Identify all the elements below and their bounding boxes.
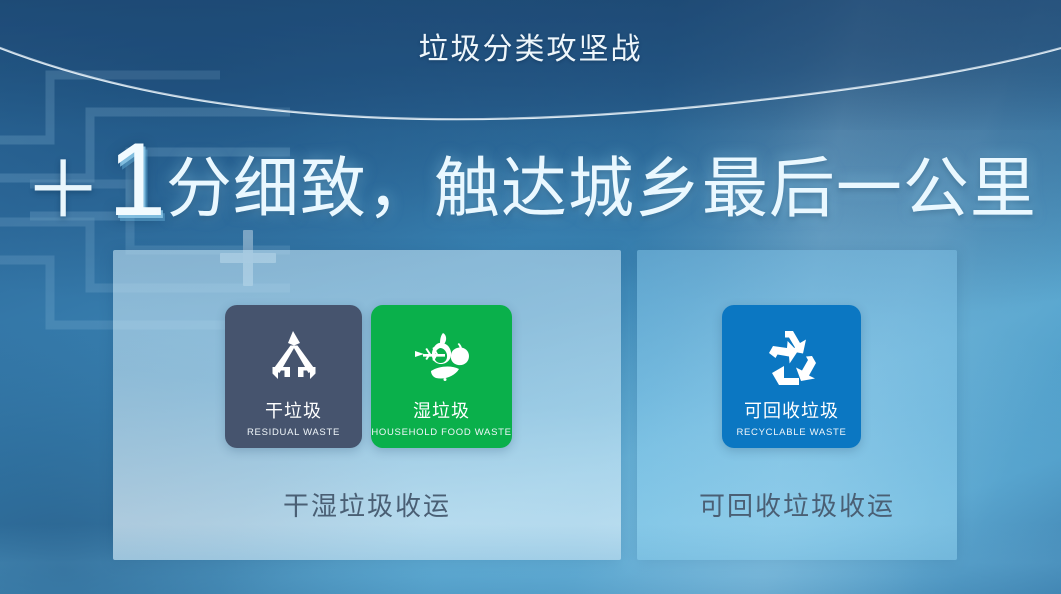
- headline: ＋1分细致，触达城乡最后一公里: [0, 128, 1061, 232]
- residual-waste-icon: [257, 321, 331, 395]
- card-label-en: HOUSEHOLD FOOD WASTE: [371, 427, 511, 438]
- caption-dry-wet-collection: 干湿垃圾收运: [113, 486, 621, 523]
- headline-plus-sign: ＋: [24, 146, 102, 234]
- card-label-cn: 湿垃圾: [413, 397, 470, 423]
- card-label-en: RESIDUAL WASTE: [247, 427, 340, 438]
- headline-text: 分细致，触达城乡最后一公里: [166, 151, 1037, 225]
- slide-canvas: 垃圾分类攻坚战 ＋1分细致，触达城乡最后一公里 干垃圾 RESIDUAL WAS…: [0, 0, 1061, 594]
- page-title: 垃圾分类攻坚战: [0, 24, 1061, 68]
- caption-recyclable-collection: 可回收垃圾收运: [637, 486, 957, 523]
- card-label-cn: 干垃圾: [265, 397, 322, 423]
- card-label-en: RECYCLABLE WASTE: [736, 427, 846, 438]
- recycle-icon: [755, 321, 829, 395]
- headline-number: 1: [108, 122, 164, 238]
- card-residual-waste[interactable]: 干垃圾 RESIDUAL WASTE: [225, 305, 362, 448]
- food-waste-icon: [405, 321, 479, 395]
- card-household-food-waste[interactable]: 湿垃圾 HOUSEHOLD FOOD WASTE: [371, 305, 512, 448]
- card-recyclable-waste[interactable]: 可回收垃圾 RECYCLABLE WASTE: [722, 305, 861, 448]
- card-label-cn: 可回收垃圾: [744, 397, 839, 423]
